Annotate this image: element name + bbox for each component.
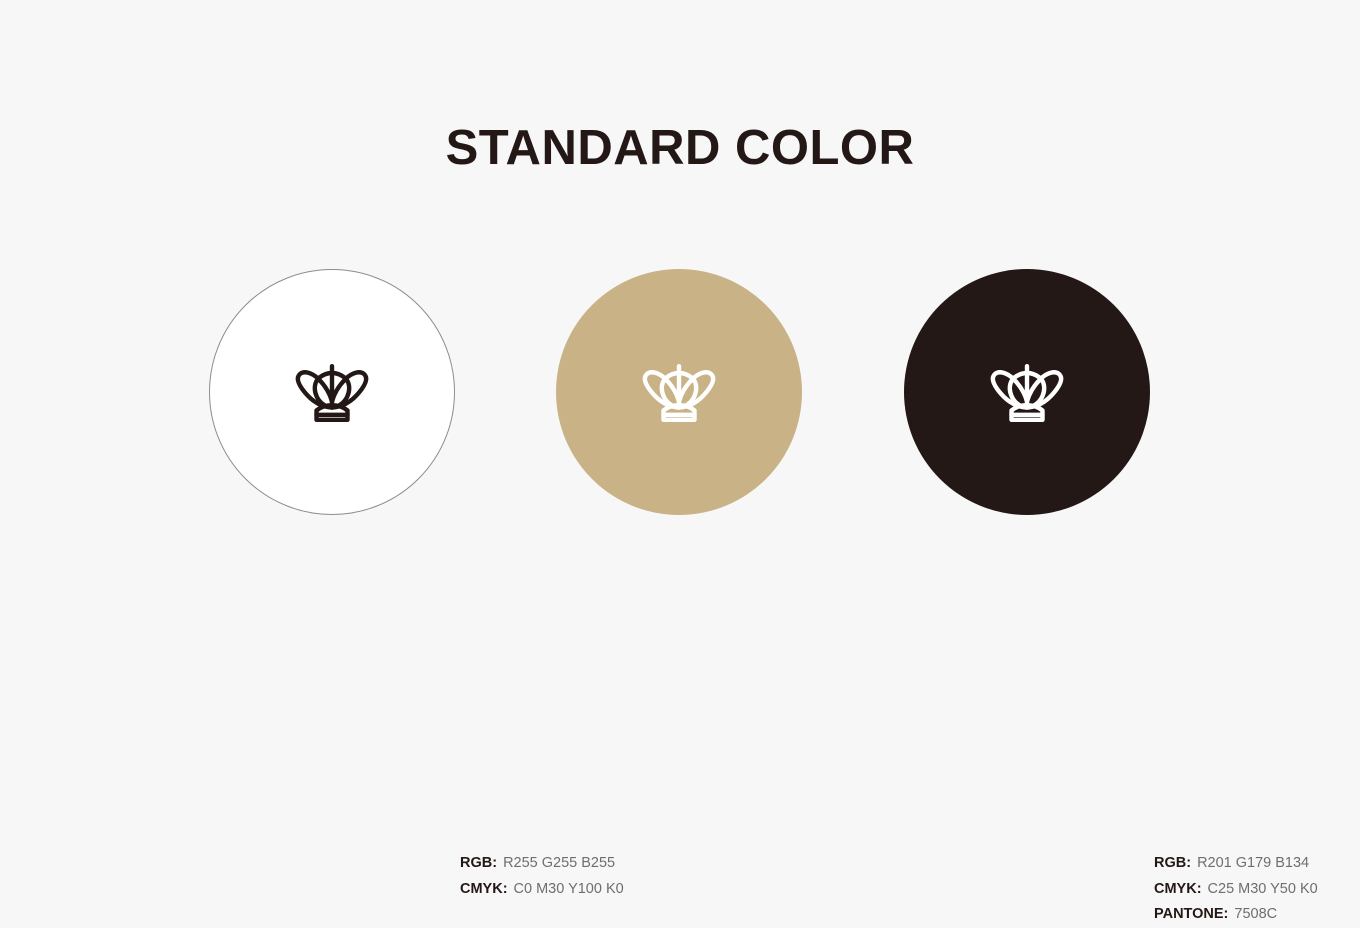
spec-value-pantone: 7508C [1234,906,1277,922]
spec-label-cmyk: CMYK: [460,881,508,897]
spec-value-rgb: R255 G255 B255 [503,855,615,871]
color-swatch-white: RGB:R255 G255 B255 CMYK:C0 M30 Y100 K0 [209,269,455,515]
swatch-specs-white: RGB:R255 G255 B255 CMYK:C0 M30 Y100 K0 [460,851,624,902]
spec-label-pantone: PANTONE: [1154,906,1228,922]
crown-icon [981,363,1073,425]
color-swatch-black: RGB:R35 G24 B21 CMYK:C0 M0 Y0 K100 PANTO… [904,269,1150,515]
swatch-circle-gold [556,269,802,515]
swatch-circle-black [904,269,1150,515]
spec-label-rgb: RGB: [460,855,497,871]
spec-row-rgb: RGB:R255 G255 B255 [460,851,624,877]
spec-row-pantone: PANTONE:7508C [1154,902,1318,928]
crown-icon [633,363,725,425]
swatch-specs-gold: RGB:R201 G179 B134 CMYK:C25 M30 Y50 K0 P… [1154,851,1318,928]
spec-value-rgb: R201 G179 B134 [1197,855,1309,871]
spec-label-cmyk: CMYK: [1154,881,1202,897]
spec-row-cmyk: CMYK:C0 M30 Y100 K0 [460,877,624,903]
spec-label-rgb: RGB: [1154,855,1191,871]
spec-row-rgb: RGB:R201 G179 B134 [1154,851,1318,877]
crown-icon [286,363,378,425]
color-swatch-gold: RGB:R201 G179 B134 CMYK:C25 M30 Y50 K0 P… [556,269,802,515]
spec-value-cmyk: C0 M30 Y100 K0 [514,881,624,897]
standard-color-page: STANDARD COLOR RGB:R255 G25 [0,0,1360,765]
swatch-group: RGB:R255 G255 B255 CMYK:C0 M30 Y100 K0 [0,0,1360,765]
swatch-circle-white [209,269,455,515]
spec-row-cmyk: CMYK:C25 M30 Y50 K0 [1154,877,1318,903]
spec-value-cmyk: C25 M30 Y50 K0 [1208,881,1318,897]
